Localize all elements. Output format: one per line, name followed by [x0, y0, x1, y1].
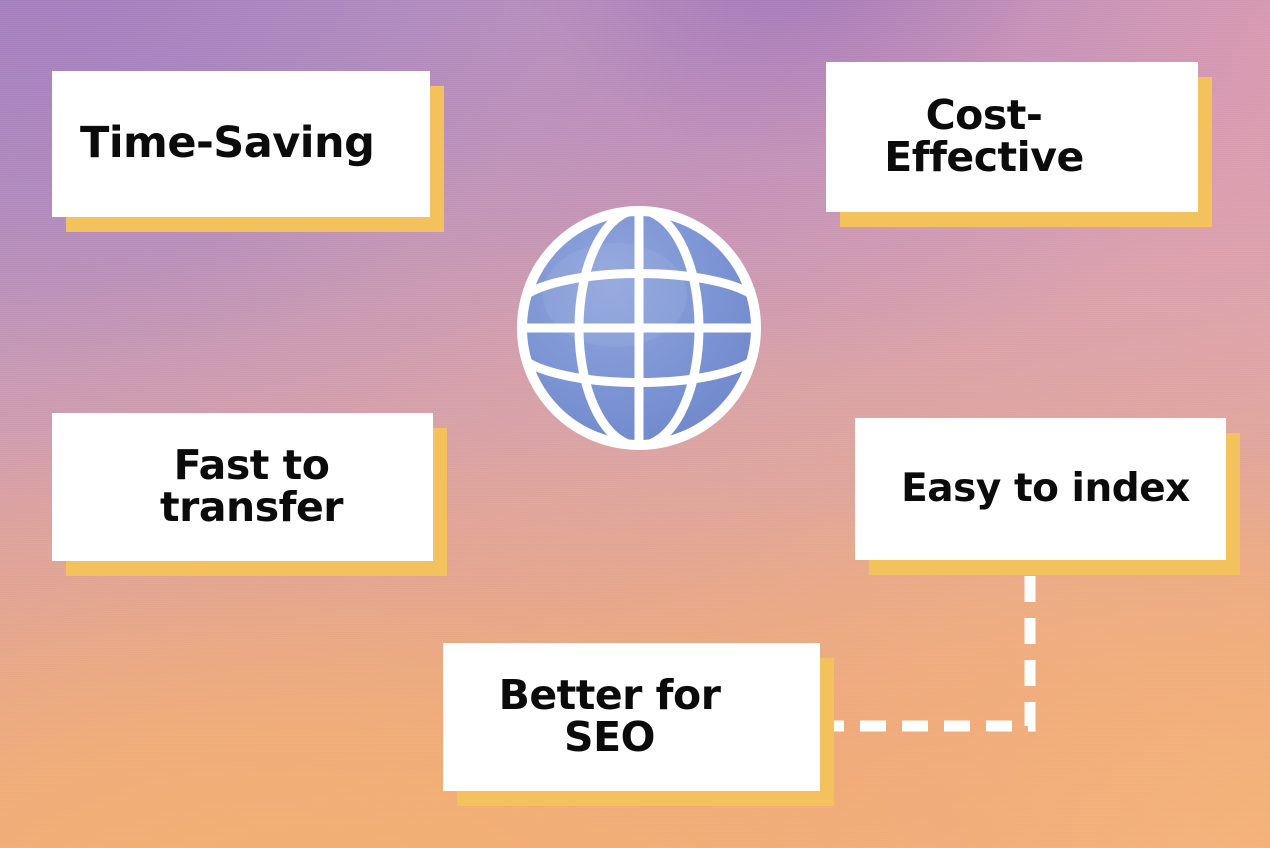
infographic-canvas: Time-Saving Cost- Effective Fast to tran… — [0, 0, 1270, 848]
card-label-fast-transfer: Fast to transfer — [70, 445, 433, 529]
card-cost-effective[interactable]: Cost- Effective — [826, 62, 1198, 212]
card-fast-transfer[interactable]: Fast to transfer — [52, 413, 433, 561]
globe-icon — [511, 199, 767, 457]
card-label-cost-effective: Cost- Effective — [826, 95, 1142, 179]
card-label-easy-index: Easy to index — [865, 469, 1226, 509]
connector-path — [830, 576, 1030, 726]
card-time-saving[interactable]: Time-Saving — [52, 71, 430, 217]
card-label-time-saving: Time-Saving — [80, 122, 430, 166]
card-easy-index[interactable]: Easy to index — [855, 418, 1226, 560]
card-label-better-seo: Better for SEO — [443, 675, 776, 759]
card-better-seo[interactable]: Better for SEO — [443, 643, 820, 791]
